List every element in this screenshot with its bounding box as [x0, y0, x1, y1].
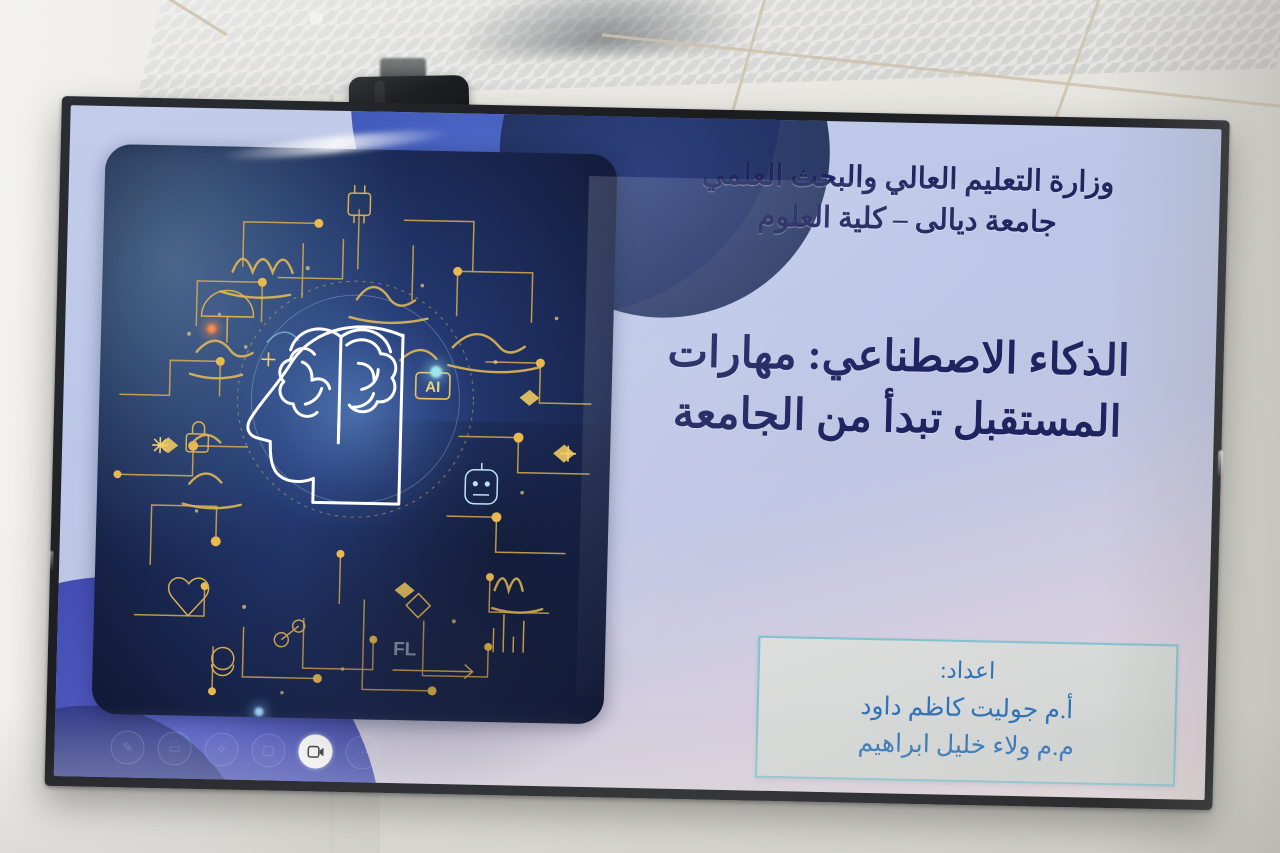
- head-brain-icon: [91, 144, 617, 725]
- title-line-2: المستقبل تبدأ من الجامعة: [611, 382, 1182, 455]
- bezel-highlight-left: [49, 551, 54, 571]
- presentation-slide: AI FL: [54, 105, 1222, 800]
- tv-screen: AI FL: [54, 105, 1222, 800]
- lecture-room-photo: AI FL: [0, 0, 1280, 853]
- ai-brain-circuit-illustration: AI FL: [91, 144, 617, 725]
- wall-shadow-bottom: [0, 703, 1280, 853]
